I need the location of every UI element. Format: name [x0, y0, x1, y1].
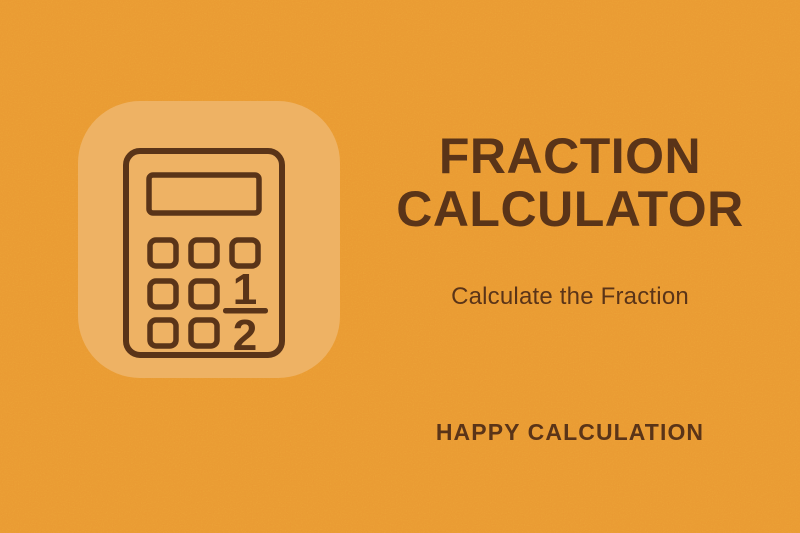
poster-canvas: 1 2 FRACTION CALCULATOR Calculate the Fr… — [0, 0, 800, 533]
calculator-key — [232, 240, 258, 266]
fraction-calculator-icon: 1 2 — [123, 148, 285, 358]
fraction-denominator: 2 — [233, 311, 257, 358]
calculator-key — [150, 320, 176, 346]
calculator-key — [191, 281, 217, 307]
page-subtitle: Calculate the Fraction — [370, 283, 770, 311]
page-title: FRACTION CALCULATOR — [370, 130, 770, 236]
calculator-display-screen — [149, 175, 259, 213]
calculator-key — [150, 240, 176, 266]
calculator-key — [191, 320, 217, 346]
calculator-key — [150, 281, 176, 307]
page-title-line-2: CALCULATOR — [370, 183, 770, 236]
fraction-numerator: 1 — [233, 265, 257, 314]
calculator-key — [191, 240, 217, 266]
text-block: FRACTION CALCULATOR Calculate the Fracti… — [370, 0, 770, 533]
page-title-line-1: FRACTION — [370, 130, 770, 183]
page-footer-text: HAPPY CALCULATION — [370, 419, 770, 446]
